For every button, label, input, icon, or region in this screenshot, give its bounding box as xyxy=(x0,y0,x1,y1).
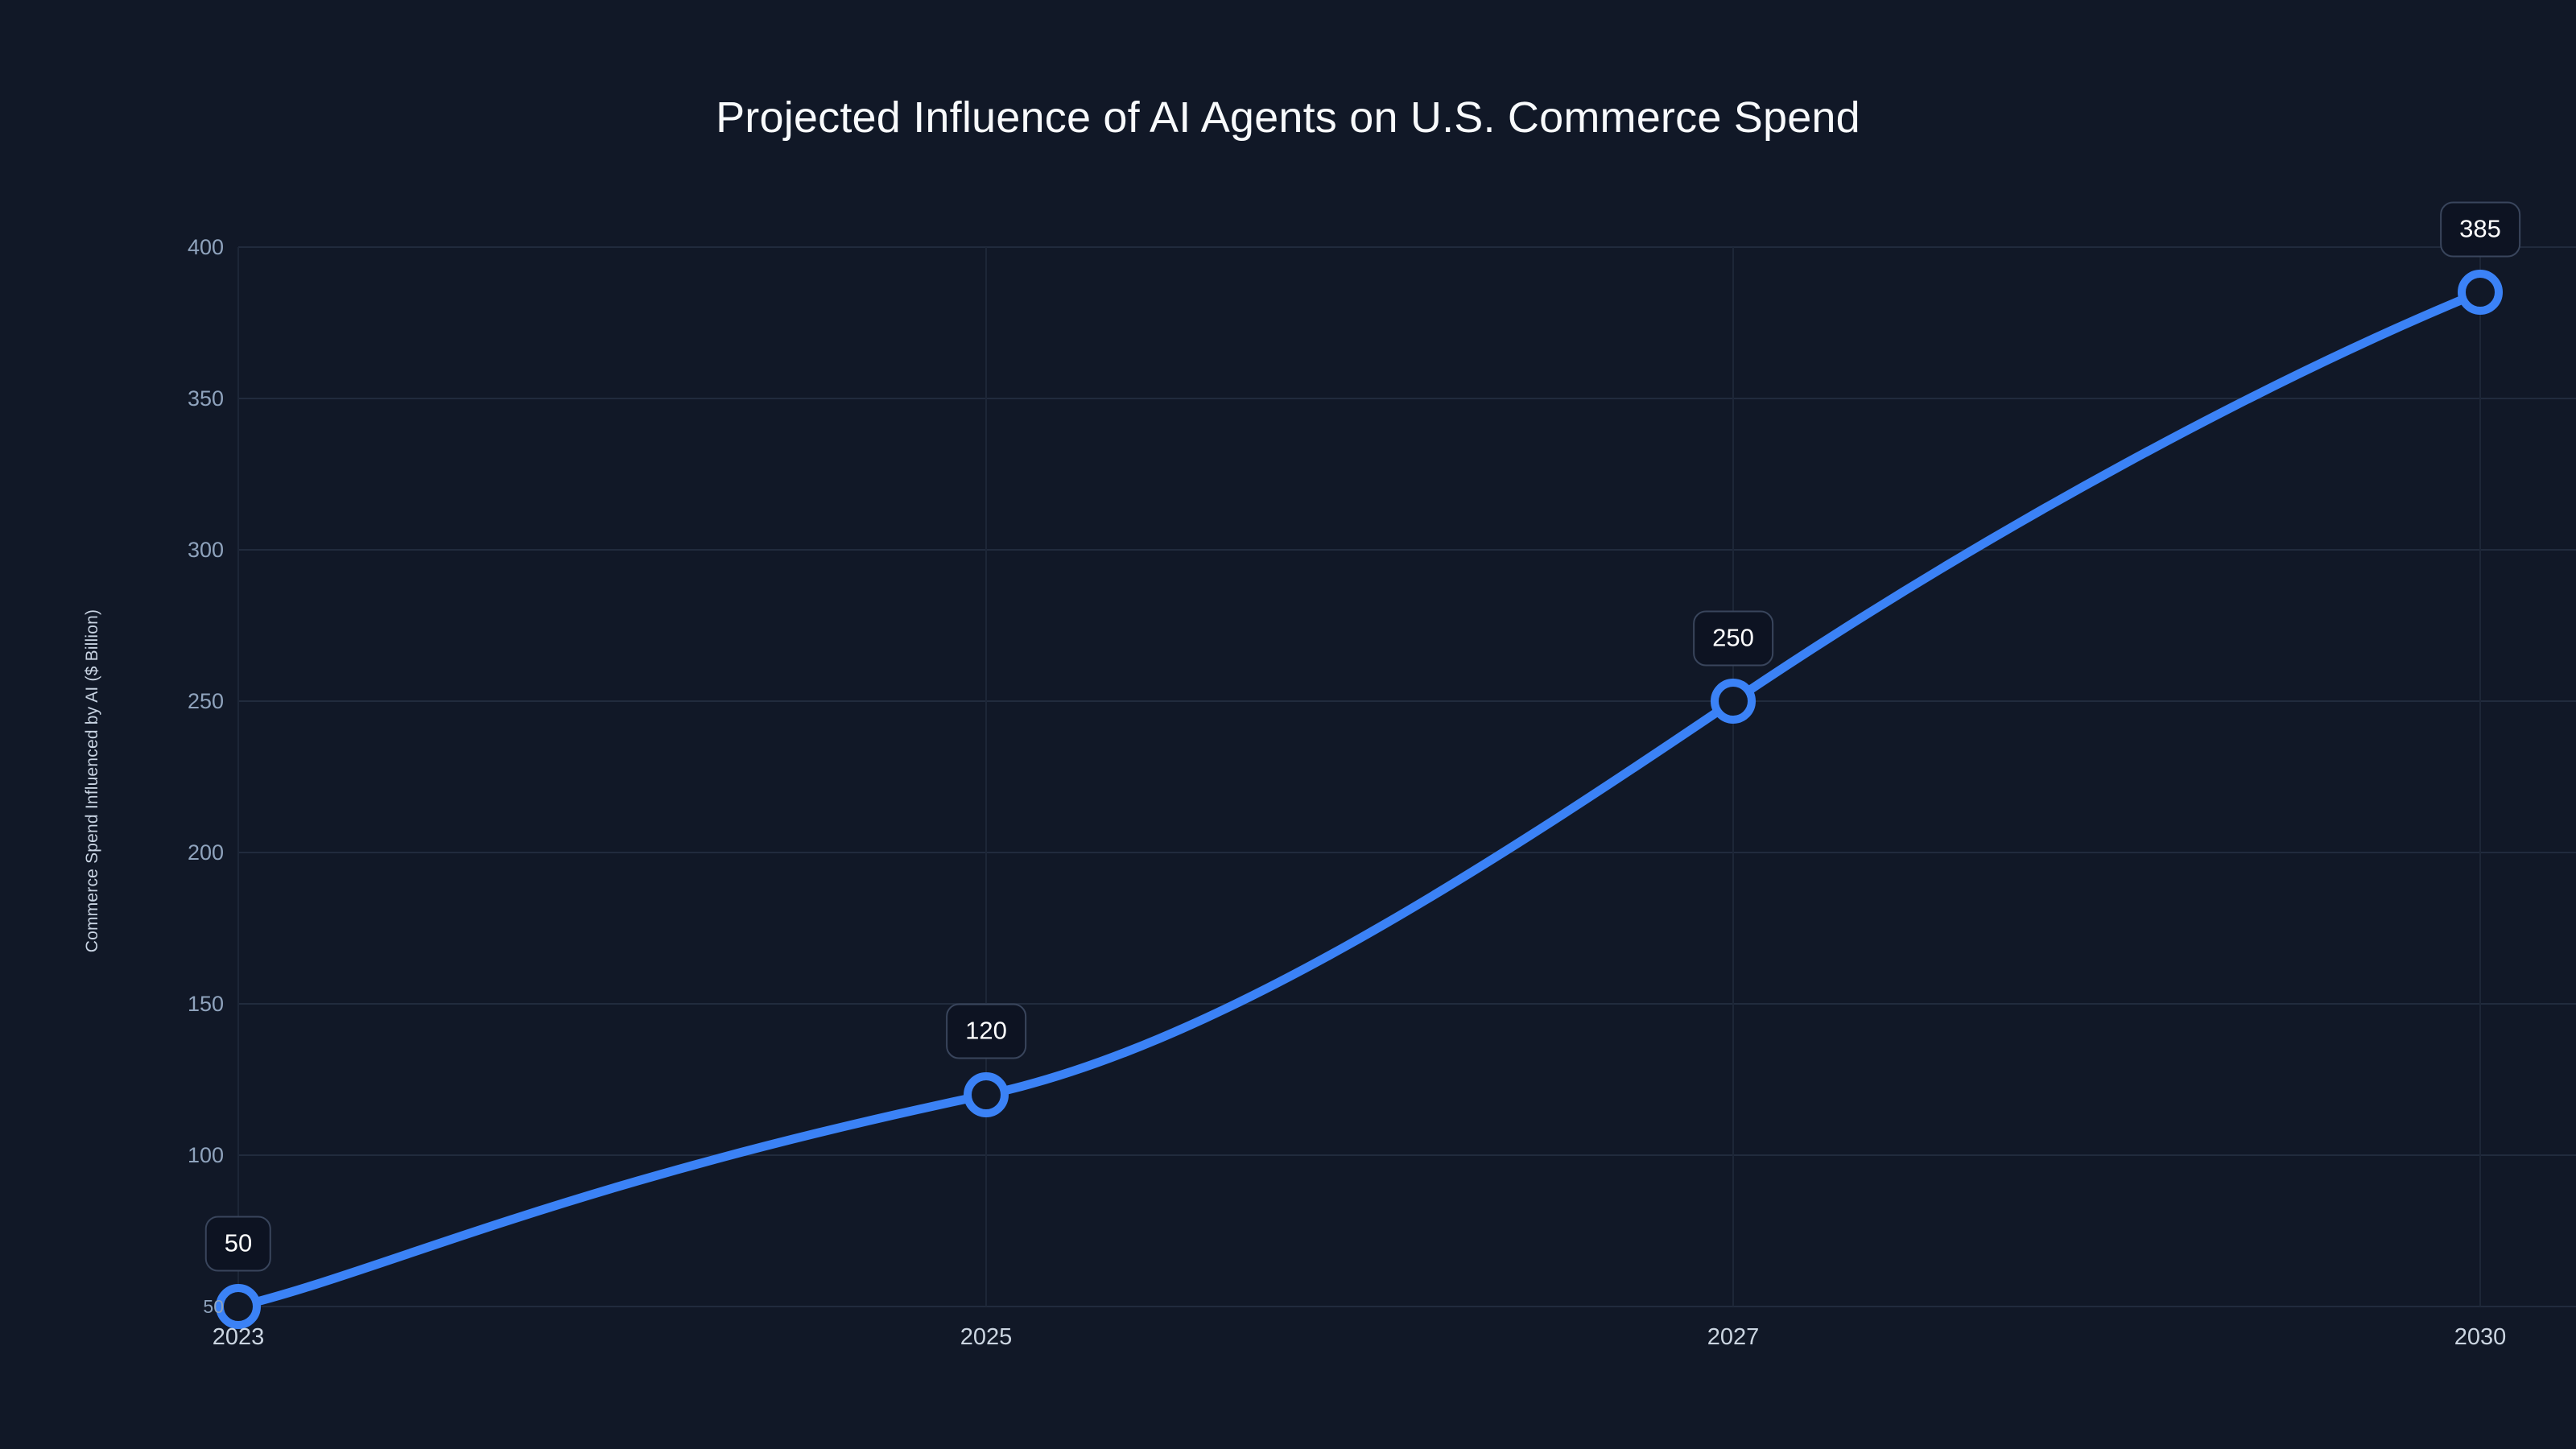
y-axis-ticks: 400 350 300 250 200 150 100 50 xyxy=(0,0,224,1449)
x-tick-2023: 2023 xyxy=(213,1324,265,1351)
data-point-2025[interactable] xyxy=(968,1076,1005,1113)
x-tick-2027: 2027 xyxy=(1707,1324,1760,1351)
data-point-2030[interactable] xyxy=(2462,274,2499,311)
y-tick-350: 350 xyxy=(13,386,224,411)
y-tick-150: 150 xyxy=(13,992,224,1017)
gridlines-vertical xyxy=(238,247,2480,1307)
y-tick-300: 300 xyxy=(13,538,224,563)
y-tick-250: 250 xyxy=(13,689,224,714)
plot-area xyxy=(0,0,2576,1449)
y-tick-50: 50 xyxy=(5,1296,224,1318)
x-tick-2030: 2030 xyxy=(2454,1324,2507,1351)
data-markers xyxy=(220,274,2499,1325)
y-tick-200: 200 xyxy=(13,840,224,865)
x-tick-2025: 2025 xyxy=(960,1324,1013,1351)
value-badge-2023: 50 xyxy=(205,1216,271,1272)
chart-canvas: Projected Influence of AI Agents on U.S.… xyxy=(0,0,2576,1449)
value-badge-2025: 120 xyxy=(946,1004,1026,1059)
y-tick-100: 100 xyxy=(13,1143,224,1168)
value-badge-2027: 250 xyxy=(1693,611,1773,667)
value-badge-2030: 385 xyxy=(2440,202,2520,258)
data-point-2023[interactable] xyxy=(220,1288,257,1325)
y-tick-400: 400 xyxy=(13,235,224,260)
data-point-2027[interactable] xyxy=(1715,683,1752,720)
